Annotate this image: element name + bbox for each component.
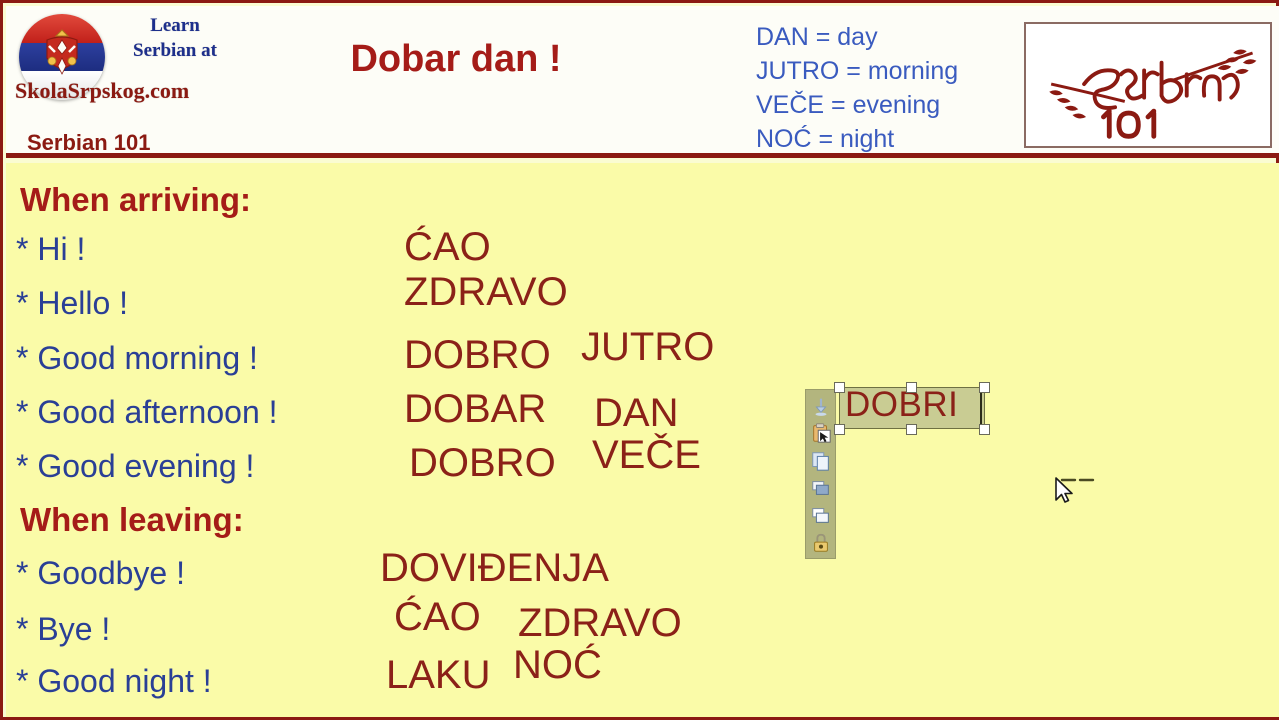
text-caret (980, 390, 982, 426)
send-backward-icon[interactable] (809, 476, 833, 500)
phrase-english: * Good morning ! (16, 340, 258, 377)
brand-logo-block: Learn Serbian at SkolaSrpskog.com Serbia… (11, 10, 241, 155)
phrase-serbian: DOVIĐENJA (380, 546, 609, 591)
slide-header: Learn Serbian at SkolaSrpskog.com Serbia… (6, 6, 1279, 158)
phrase-serbian: DOBAR (404, 387, 546, 432)
selected-text-box[interactable]: DOBRI (839, 387, 985, 429)
phrase-serbian-alt: NOĆ (513, 643, 602, 688)
serbian-101-logo-box (1024, 22, 1272, 148)
glossary-list: DAN = day JUTRO = morning VEČE = evening… (756, 20, 1016, 156)
brand-course-label: Serbian 101 (27, 130, 151, 156)
brand-line-1: Learn (109, 16, 241, 37)
lesson-slide: Learn Serbian at SkolaSrpskog.com Serbia… (0, 0, 1279, 720)
glossary-item: JUTRO = morning (756, 54, 1016, 88)
phrase-english: * Good afternoon ! (16, 394, 278, 431)
glossary-item: VEČE = evening (756, 88, 1016, 122)
lock-object-icon[interactable] (809, 531, 833, 555)
phrase-serbian: ĆAO (394, 595, 481, 640)
phrase-serbian-alt: DAN (594, 391, 678, 436)
resize-handle-top-center[interactable] (906, 382, 917, 393)
section-heading-leaving: When leaving: (20, 501, 244, 539)
text-box-value[interactable]: DOBRI (845, 385, 958, 425)
phrase-english: * Goodbye ! (16, 555, 185, 592)
copy-pages-icon[interactable] (809, 449, 833, 473)
phrase-serbian: DOBRO (409, 441, 556, 486)
phrase-english: * Good night ! (16, 663, 212, 700)
clipboard-paste-icon[interactable] (809, 421, 833, 445)
phrase-serbian: DOBRO (404, 333, 551, 378)
brand-text-lines: Learn Serbian at (109, 16, 241, 61)
brand-domain-text: SkolaSrpskog.com (15, 78, 241, 104)
slide-body: When arriving: * Hi ! * Hello ! * Good m… (6, 163, 1279, 717)
phrase-english: * Hi ! (16, 231, 85, 268)
phrase-serbian: ZDRAVO (404, 270, 568, 315)
phrase-english: * Hello ! (16, 285, 128, 322)
phrase-serbian: LAKU (386, 653, 491, 698)
phrase-serbian-alt: ZDRAVO (518, 601, 682, 646)
phrase-serbian-alt: VEČE (592, 433, 701, 478)
serbian-101-script-logo-icon (1026, 24, 1270, 146)
floating-paste-toolbar[interactable] (805, 389, 836, 559)
phrase-english: * Bye ! (16, 611, 110, 648)
phrase-english: * Good evening ! (16, 448, 254, 485)
mouse-arrow-cursor-icon (1051, 476, 1111, 510)
resize-handle-bottom-right[interactable] (979, 424, 990, 435)
section-heading-arriving: When arriving: (20, 181, 251, 219)
bring-forward-icon[interactable] (809, 503, 833, 527)
glossary-item: NOĆ = night (756, 122, 1016, 156)
brand-line-2: Serbian at (109, 41, 241, 62)
paste-arrow-icon[interactable] (809, 394, 833, 418)
resize-handle-top-left[interactable] (834, 382, 845, 393)
glossary-item: DAN = day (756, 20, 1016, 54)
resize-handle-top-right[interactable] (979, 382, 990, 393)
resize-handle-bottom-center[interactable] (906, 424, 917, 435)
resize-handle-bottom-left[interactable] (834, 424, 845, 435)
phrase-serbian: ĆAO (404, 225, 491, 270)
phrase-serbian-alt: JUTRO (581, 325, 714, 370)
page-title: Dobar dan ! (246, 38, 666, 81)
